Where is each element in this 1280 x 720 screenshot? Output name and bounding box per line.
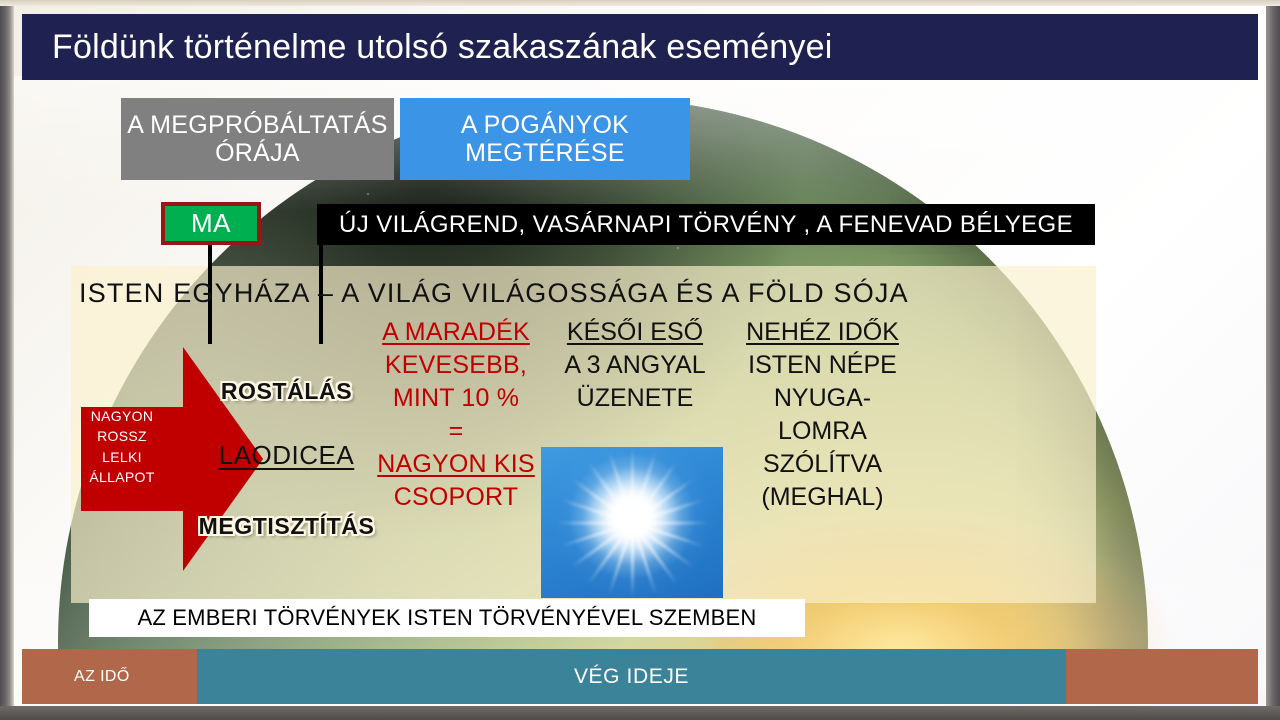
remnant-line-6: CSOPORT	[376, 481, 536, 514]
trouble-line-4: LOMRA	[730, 415, 915, 448]
arrow-label-line-4: ÁLLAPOT	[76, 467, 168, 487]
trouble-line-1: NEHÉZ IDŐK	[730, 316, 915, 349]
timeline-label-az-ido: AZ IDŐ	[22, 668, 130, 686]
latter-rain-line-2: A 3 ANGYAL	[550, 349, 720, 382]
slide-canvas: Földünk történelme utolsó szakaszának es…	[14, 6, 1266, 706]
black-banner: ÚJ VILÁGREND, VASÁRNAPI TÖRVÉNY , A FENE…	[317, 204, 1095, 245]
remnant-line-2: KEVESEBB,	[376, 349, 536, 382]
remnant-line-4: =	[376, 415, 536, 448]
timeline-segment-az-ido[interactable]: AZ IDŐ	[22, 649, 197, 704]
timeline-segment-right[interactable]	[1066, 649, 1258, 704]
column-time-of-trouble: NEHÉZ IDŐK ISTEN NÉPE NYUGA- LOMRA SZÓLÍ…	[730, 316, 915, 514]
arrow-label-line-3: LELKI	[76, 447, 168, 467]
topbox-poganyok[interactable]: A POGÁNYOK MEGTÉRÉSE	[400, 98, 690, 180]
label-laodicea: LAODICEA	[194, 440, 379, 471]
arrow-label: NAGYON ROSSZ LELKI ÁLLAPOT	[76, 406, 168, 487]
slide-edge-right	[1266, 0, 1280, 720]
latter-rain-line-3: ÜZENETE	[550, 382, 720, 415]
panel-headline: ISTEN EGYHÁZA – A VILÁG VILÁGOSSÁGA ÉS A…	[71, 278, 1096, 309]
trouble-line-3: NYUGA-	[730, 382, 915, 415]
arrow-label-line-1: NAGYON	[76, 406, 168, 426]
topbox-megprobaltatas[interactable]: A MEGPRÓBÁLTATÁS ÓRÁJA	[121, 98, 394, 180]
timeline-bar: AZ IDŐ VÉG IDEJE	[22, 649, 1258, 704]
column-remnant: A MARADÉK KEVESEBB, MINT 10 % = NAGYON K…	[376, 316, 536, 514]
timeline-label-veg-ideje: VÉG IDEJE	[574, 665, 689, 689]
arrow-label-line-2: ROSSZ	[76, 426, 168, 446]
page-title: Földünk történelme utolsó szakaszának es…	[22, 28, 832, 67]
sun-core	[584, 468, 680, 564]
sun-rays-image	[541, 447, 723, 598]
slide-edge-top	[0, 0, 1280, 6]
remnant-line-3: MINT 10 %	[376, 382, 536, 415]
remnant-line-5: NAGYON KIS	[376, 448, 536, 481]
latter-rain-line-1: KÉSŐI ESŐ	[550, 316, 720, 349]
trouble-line-5: SZÓLÍTVA	[730, 448, 915, 481]
trouble-line-6: (MEGHAL)	[730, 481, 915, 514]
slide-edge-left	[0, 0, 14, 720]
trouble-line-2: ISTEN NÉPE	[730, 349, 915, 382]
remnant-line-1: A MARADÉK	[376, 316, 536, 349]
column-latter-rain: KÉSŐI ESŐ A 3 ANGYAL ÜZENETE	[550, 316, 720, 415]
label-rostalas: ROSTÁLÁS	[194, 378, 379, 405]
presentation-slide: Földünk történelme utolsó szakaszának es…	[0, 0, 1280, 720]
column-church-stages: ROSTÁLÁS LAODICEA MEGTISZTÍTÁS	[194, 378, 379, 540]
slide-title-bar: Földünk történelme utolsó szakaszának es…	[22, 14, 1258, 80]
slide-edge-bottom	[0, 706, 1280, 720]
white-strip-banner: AZ EMBERI TÖRVÉNYEK ISTEN TÖRVÉNYÉVEL SZ…	[89, 599, 805, 637]
today-marker-badge[interactable]: MA	[161, 202, 261, 245]
timeline-segment-veg-ideje[interactable]: VÉG IDEJE	[197, 649, 1066, 704]
label-megtisztitas: MEGTISZTÍTÁS	[194, 513, 379, 540]
